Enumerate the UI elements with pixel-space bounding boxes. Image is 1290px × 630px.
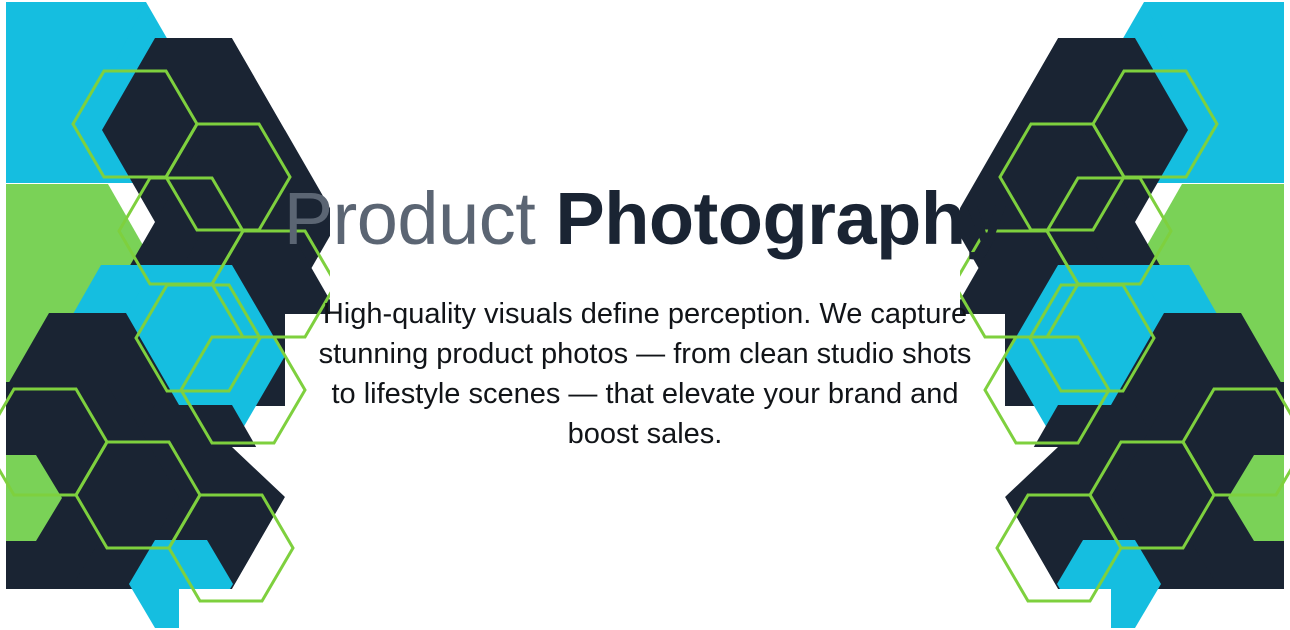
page-title-bold-part: Photography [555,177,1006,260]
page-title: Product Photography [284,0,1006,256]
banner: Product Photography High-quality visuals… [0,0,1290,630]
page-title-light-part: Product [284,177,556,260]
banner-content: Product Photography High-quality visuals… [0,0,1290,630]
page-subtitle: High-quality visuals define perception. … [315,256,975,454]
